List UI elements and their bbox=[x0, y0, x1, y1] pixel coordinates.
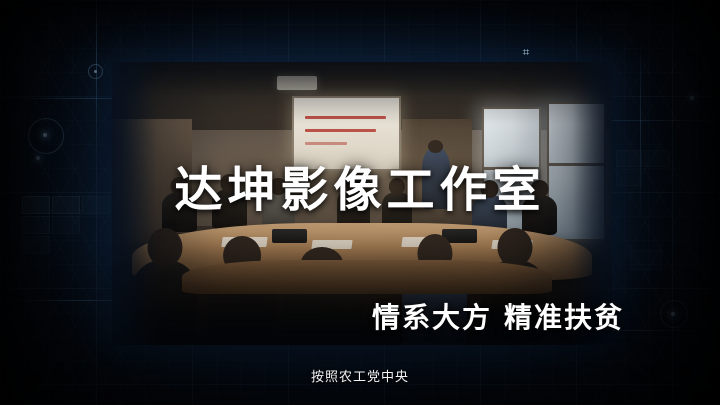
decor-glow-dot bbox=[671, 312, 675, 316]
video-frame: HERACLE_3 PRES 2351.M0 ⌐ ¬ bbox=[0, 0, 720, 405]
subtitle-caption: 按照农工党中央 bbox=[0, 366, 720, 385]
slogan: 情系大方精准扶贫 bbox=[372, 304, 624, 332]
studio-title: 达坤影像工作室 bbox=[0, 166, 720, 214]
decor-block bbox=[22, 216, 50, 234]
decor-block bbox=[52, 216, 80, 234]
decor-block bbox=[22, 236, 50, 254]
slogan-part-2: 精准扶贫 bbox=[504, 301, 624, 334]
decor-glow-dot bbox=[36, 156, 40, 160]
decor-glow-dot bbox=[43, 133, 47, 137]
decor-corner-marker bbox=[88, 64, 103, 79]
decor-block bbox=[616, 150, 642, 167]
slogan-part-1: 情系大方 bbox=[372, 301, 492, 334]
decor-block bbox=[630, 250, 662, 270]
decor-glow-dot bbox=[690, 96, 694, 100]
top-center-glyph: ⌗ bbox=[519, 45, 533, 59]
decor-block bbox=[644, 150, 670, 167]
